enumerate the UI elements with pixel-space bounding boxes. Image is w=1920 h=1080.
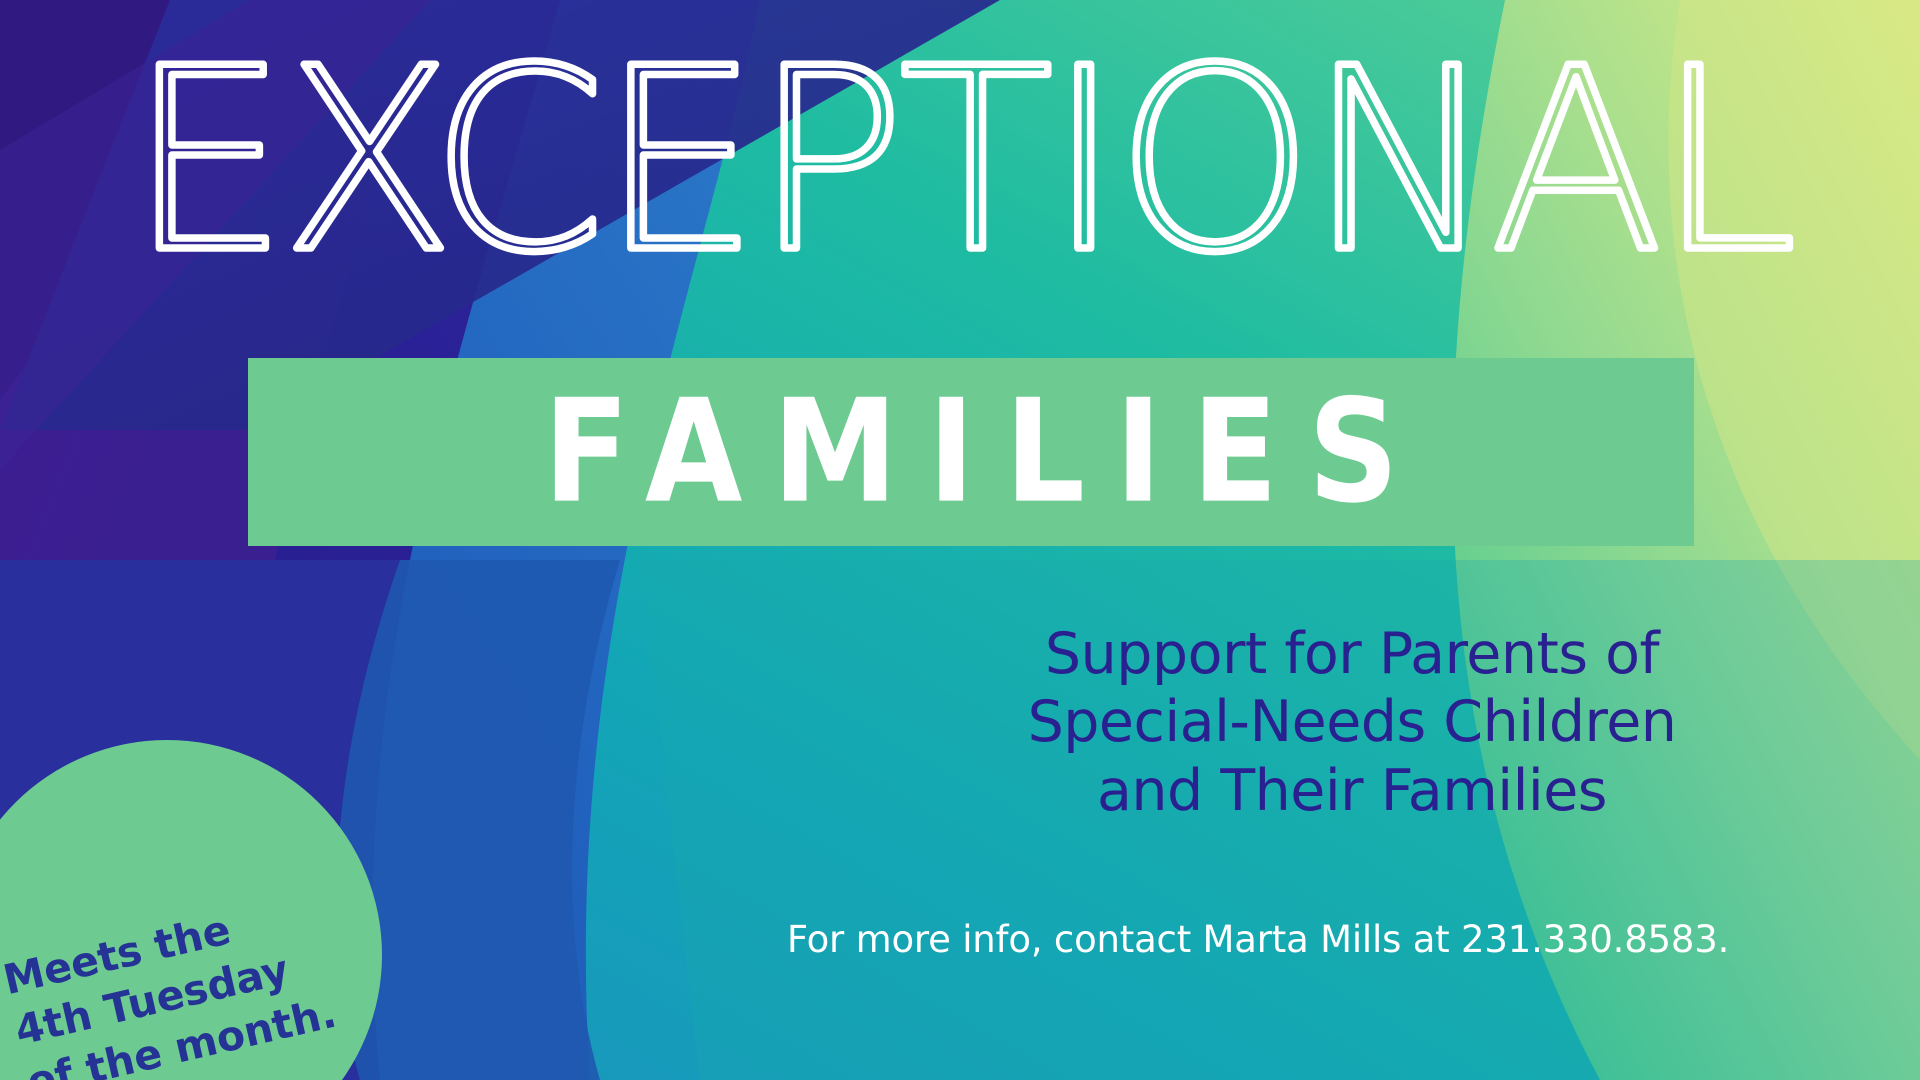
tagline-block: Support for Parents of Special-Needs Chi… (972, 620, 1732, 825)
tagline-line-2: Special-Needs Children (972, 688, 1732, 756)
families-label: FAMILIES (513, 381, 1428, 523)
tagline-line-1: Support for Parents of (972, 620, 1732, 688)
tagline-line-3: and Their Families (972, 757, 1732, 825)
meeting-schedule-text: Meets the 4th Tuesday of the month. (0, 885, 341, 1080)
promotional-banner: EXCEPTIONAL EXCEPTIONAL FAMILIES Support… (0, 0, 1920, 1080)
families-band: FAMILIES (248, 358, 1694, 546)
contact-info: For more info, contact Marta Mills at 23… (778, 918, 1738, 961)
